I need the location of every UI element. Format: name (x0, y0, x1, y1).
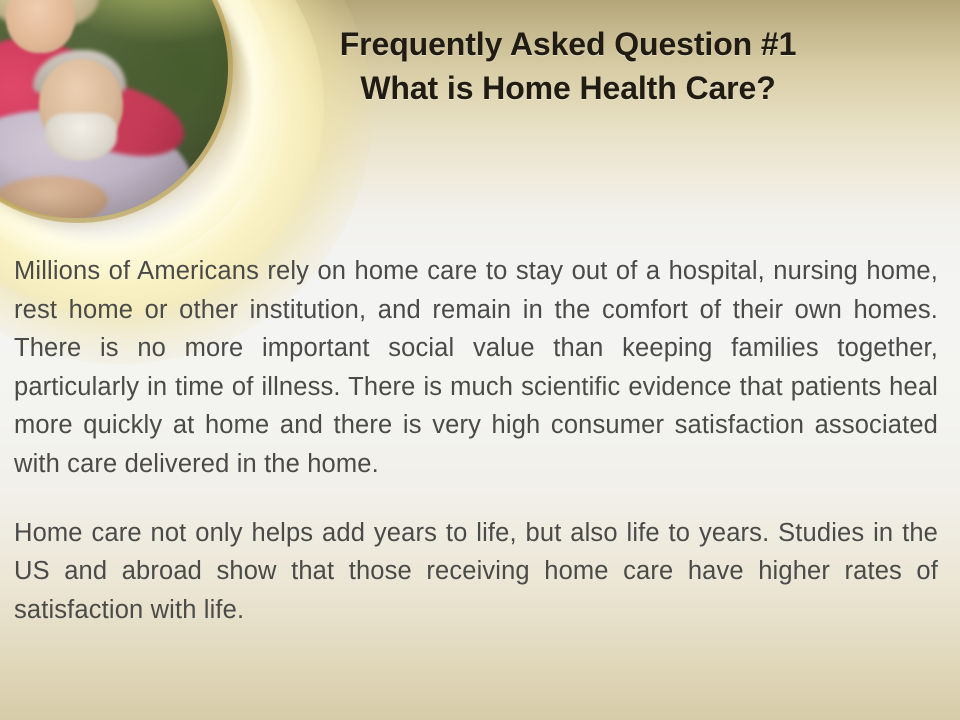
body-content: Millions of Americans rely on home care … (14, 252, 938, 629)
faq-slide: Frequently Asked Question #1 What is Hom… (0, 0, 960, 720)
title-line-2: What is Home Health Care? (258, 66, 878, 110)
title-line-1: Frequently Asked Question #1 (258, 22, 878, 66)
paragraph-1: Millions of Americans rely on home care … (14, 252, 938, 484)
paragraph-2: Home care not only helps add years to li… (14, 514, 938, 630)
page-title: Frequently Asked Question #1 What is Hom… (258, 22, 878, 110)
elderly-couple-photo (0, 0, 228, 218)
